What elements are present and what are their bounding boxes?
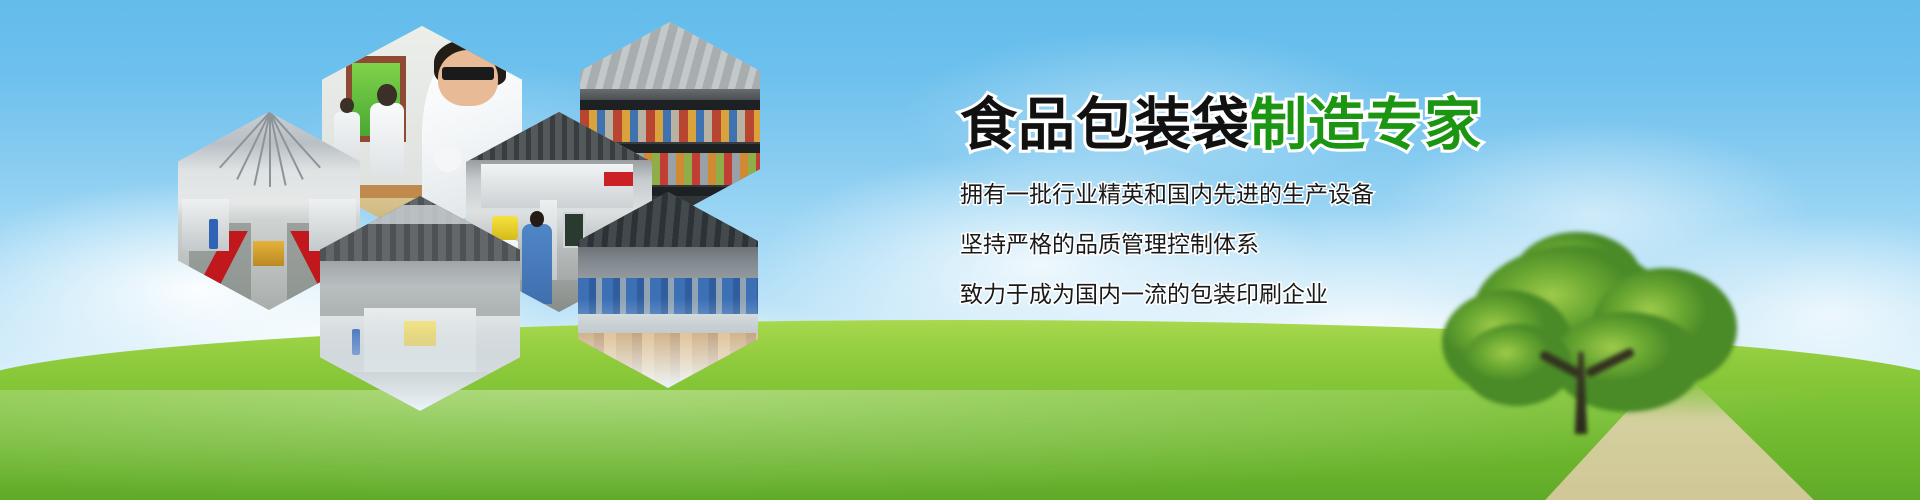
headline: 食品包装袋制造专家 — [960, 96, 1720, 155]
banner-copy: 食品包装袋制造专家 拥有一批行业精英和国内先进的生产设备 坚持严格的品质管理控制… — [960, 96, 1720, 306]
subtitle-line-2: 坚持严格的品质管理控制体系 — [960, 233, 1720, 256]
hero-banner: 食品包装袋制造专家 拥有一批行业精英和国内先进的生产设备 坚持严格的品质管理控制… — [0, 0, 1920, 500]
headline-primary: 食品包装袋 — [960, 96, 1250, 155]
hexagon-photo-cluster — [0, 0, 820, 360]
subtitle-line-1: 拥有一批行业精英和国内先进的生产设备 — [960, 183, 1720, 206]
subtitle-list: 拥有一批行业精英和国内先进的生产设备 坚持严格的品质管理控制体系 致力于成为国内… — [960, 183, 1720, 306]
headline-accent: 制造专家 — [1250, 96, 1482, 155]
subtitle-line-3: 致力于成为国内一流的包装印刷企业 — [960, 283, 1720, 306]
